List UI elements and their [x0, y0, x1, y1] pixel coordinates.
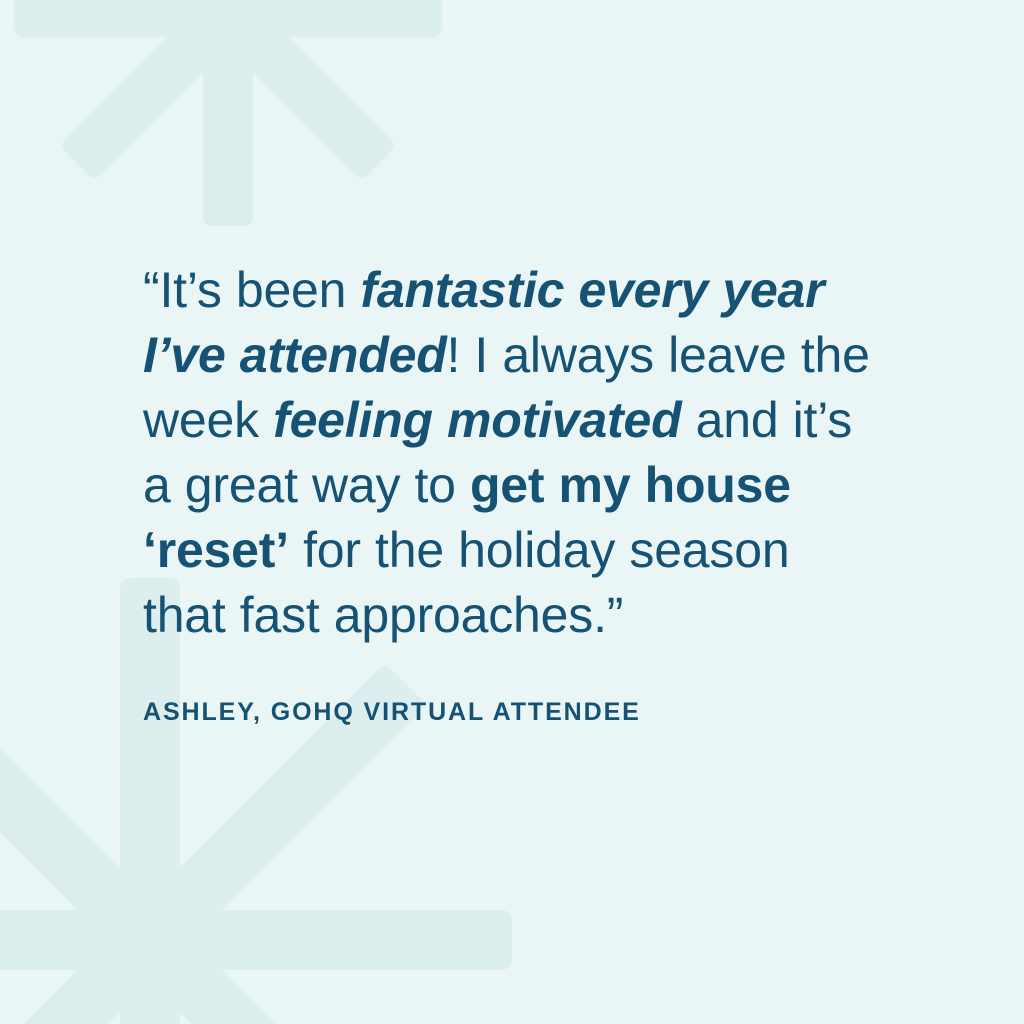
- asterisk-icon-top-left: [0, 0, 458, 242]
- testimonial-content: “It’s been fantastic every year I’ve att…: [143, 258, 883, 648]
- quote-segment-emphasis-2: feeling motivated: [273, 392, 681, 448]
- quote-segment-regular-1: “It’s been: [143, 262, 360, 318]
- quote-text: “It’s been fantastic every year I’ve att…: [143, 258, 883, 648]
- testimonial-card: “It’s been fantastic every year I’ve att…: [0, 0, 1024, 1024]
- attribution-label: Ashley, GoHQ Virtual Attendee: [143, 698, 641, 727]
